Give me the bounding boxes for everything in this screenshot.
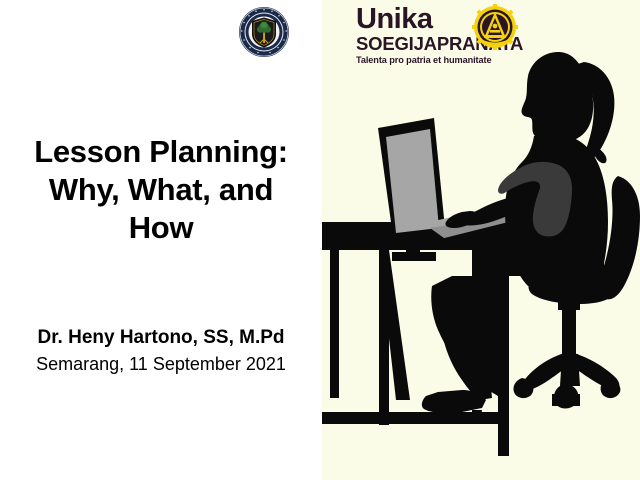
title-line-2: Why, What, and bbox=[8, 171, 314, 209]
right-image-panel: Unika SOEGIJAPRANATA Talenta pro patria … bbox=[322, 0, 640, 480]
desk-leg-left bbox=[330, 250, 339, 398]
presentation-slide: Lesson Planning: Why, What, and How Dr. … bbox=[0, 0, 640, 480]
caster-left bbox=[513, 378, 533, 398]
unika-gear-emblem-icon bbox=[472, 4, 518, 50]
chair-seat bbox=[529, 272, 615, 304]
title-line-1: Lesson Planning: bbox=[8, 133, 314, 171]
woman-at-computer-silhouette bbox=[322, 0, 640, 480]
high-heel-shoe bbox=[422, 390, 486, 413]
left-title-panel: Lesson Planning: Why, What, and How Dr. … bbox=[0, 0, 322, 480]
monitor-base bbox=[392, 252, 436, 261]
unika-tagline-text: Talenta pro patria et humanitate bbox=[356, 55, 526, 65]
page-title: Lesson Planning: Why, What, and How bbox=[8, 133, 314, 246]
university-seal-icon bbox=[238, 6, 290, 58]
title-line-3: How bbox=[8, 209, 314, 247]
event-location-date: Semarang, 11 September 2021 bbox=[8, 351, 314, 377]
unika-logo: Unika SOEGIJAPRANATA Talenta pro patria … bbox=[356, 6, 526, 65]
subtitle-block: Dr. Heny Hartono, SS, M.Pd Semarang, 11 … bbox=[8, 325, 314, 377]
chair-cylinder bbox=[562, 302, 576, 358]
presenter-name: Dr. Heny Hartono, SS, M.Pd bbox=[8, 325, 314, 351]
desk-support-post bbox=[498, 250, 509, 456]
